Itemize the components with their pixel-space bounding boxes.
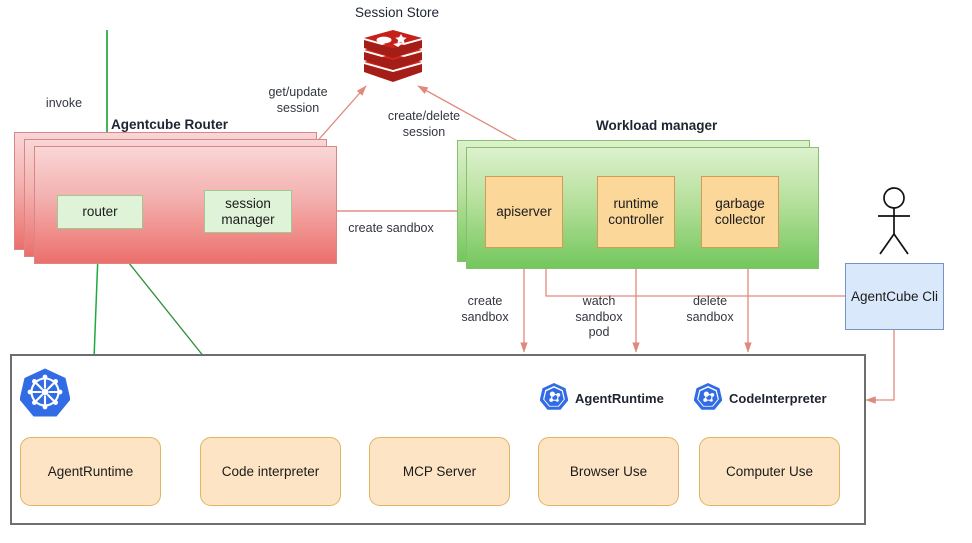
- edge-label-create-delete-session: create/delete session: [374, 109, 474, 140]
- agentcube-cli-label: AgentCube Cli: [851, 289, 938, 305]
- runtime-controller-box[interactable]: runtime controller: [597, 176, 675, 248]
- sandbox-computer-use[interactable]: Computer Use: [699, 437, 840, 506]
- edge-label-get-update-session: get/update session: [254, 85, 342, 116]
- crd-legend-agentruntime-label: AgentRuntime: [575, 391, 664, 406]
- sandbox-agentruntime[interactable]: AgentRuntime: [20, 437, 161, 506]
- workload-manager-group-title: Workload manager: [596, 118, 717, 133]
- sandbox-agentruntime-label: AgentRuntime: [48, 464, 134, 480]
- router-box-label: router: [82, 204, 117, 220]
- runtime-controller-box-label: runtime controller: [608, 196, 664, 228]
- user-actor-icon: [872, 186, 916, 258]
- edge-label-create-sandbox-link: create sandbox: [336, 221, 446, 237]
- diagram-canvas: Session Store Agentcube Router router se…: [0, 0, 972, 543]
- sandbox-mcp-server[interactable]: MCP Server: [369, 437, 510, 506]
- session-store-title: Session Store: [355, 5, 439, 20]
- sandbox-browser-use-label: Browser Use: [570, 464, 647, 480]
- edge-cli-to-cluster: [866, 330, 894, 400]
- edge-label-invoke: invoke: [34, 96, 94, 112]
- crd-legend-codeinterpreter-label: CodeInterpreter: [729, 391, 827, 406]
- garbage-collector-box[interactable]: garbage collector: [701, 176, 779, 248]
- kubernetes-crd-icon: [694, 382, 722, 415]
- agentcube-cli-box[interactable]: AgentCube Cli: [845, 263, 944, 330]
- apiserver-box-label: apiserver: [496, 204, 552, 220]
- sandbox-computer-use-label: Computer Use: [726, 464, 813, 480]
- edge-label-delete-sandbox: delete sandbox: [673, 294, 747, 325]
- crd-legend-agentruntime: AgentRuntime: [540, 382, 664, 415]
- sandbox-code-interpreter[interactable]: Code interpreter: [200, 437, 341, 506]
- kubernetes-crd-icon: [540, 382, 568, 415]
- sandbox-browser-use[interactable]: Browser Use: [538, 437, 679, 506]
- sandbox-code-interpreter-label: Code interpreter: [222, 464, 320, 480]
- edge-label-watch-sandbox-pod: watch sandbox pod: [563, 294, 635, 341]
- kubernetes-icon: [20, 367, 70, 417]
- apiserver-box[interactable]: apiserver: [485, 176, 563, 248]
- sandbox-mcp-server-label: MCP Server: [403, 464, 476, 480]
- router-box[interactable]: router: [57, 195, 143, 229]
- session-manager-box-label: session manager: [221, 196, 274, 228]
- session-manager-box[interactable]: session manager: [204, 190, 292, 233]
- garbage-collector-box-label: garbage collector: [715, 196, 765, 228]
- edge-label-create-sandbox: create sandbox: [448, 294, 522, 325]
- redis-icon: [360, 28, 426, 86]
- crd-legend-codeinterpreter: CodeInterpreter: [694, 382, 827, 415]
- router-group-title: Agentcube Router: [111, 117, 228, 132]
